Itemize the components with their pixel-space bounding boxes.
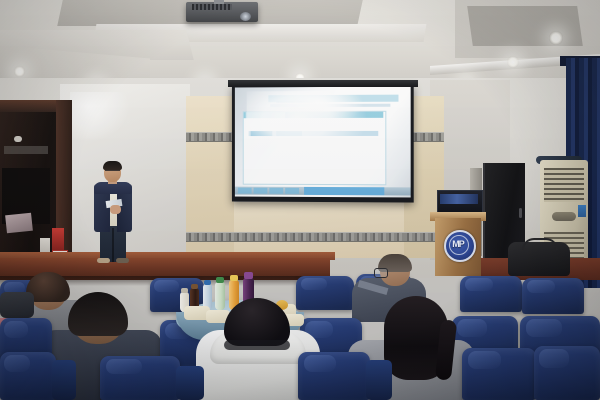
attendee-backpack [0, 292, 34, 318]
projector-mount [214, 0, 224, 4]
projector-lens-icon [240, 12, 251, 21]
seat[interactable] [100, 356, 180, 400]
attendee-dark-jacket-hair [68, 292, 128, 336]
presenter-hair [103, 161, 122, 170]
slide-taskbar-item [254, 188, 268, 194]
red-sign [52, 228, 64, 250]
seat[interactable] [522, 278, 584, 314]
attendee-white-hoodie-collar [224, 340, 290, 350]
presenter-shoe [116, 258, 129, 263]
ceiling-coffer-right-inner [467, 6, 583, 46]
bottle-cap-icon [191, 284, 198, 289]
alcove-paper [5, 213, 33, 234]
bottle-cap-icon [216, 277, 224, 283]
bottle-cap-icon [244, 272, 253, 279]
slide-taskbar-item [238, 188, 252, 194]
presenter-shoe [97, 258, 110, 263]
ac-badge [552, 212, 576, 221]
auditorium-photo: MP [0, 0, 600, 400]
downlight-icon [14, 66, 25, 77]
slide-taskbar-item [269, 188, 283, 194]
wall-light-sheen [70, 92, 130, 142]
downlight-icon [507, 56, 519, 68]
seat[interactable] [462, 348, 536, 400]
podium-emblem-monogram: MP [448, 236, 468, 252]
duffel-bag-handle[interactable] [522, 238, 558, 250]
presenter-leg-seam [112, 228, 114, 262]
ac-vent-grille-icon [544, 168, 584, 202]
energy-label-icon [578, 205, 586, 217]
cabinet-handle[interactable] [519, 208, 522, 218]
tea-bottle [215, 282, 225, 310]
podium-monitor-screen [440, 194, 478, 204]
glasses-icon [374, 268, 388, 278]
mosaic-band [186, 232, 234, 242]
projection-screen [232, 83, 414, 202]
seat-armrest [52, 360, 76, 400]
bottle-cap-icon [204, 280, 211, 285]
marble-wainscot [234, 202, 404, 258]
seat[interactable] [298, 352, 370, 400]
bottle-cap-icon [181, 288, 188, 293]
screen-glare-core [274, 87, 364, 127]
bottle-cap-icon [230, 275, 238, 281]
projector-vent-icon [192, 4, 232, 10]
seat[interactable] [534, 346, 600, 400]
alcove-shelf [4, 146, 48, 154]
seat[interactable] [0, 352, 56, 400]
seat[interactable] [460, 276, 522, 312]
downlight-icon [549, 31, 563, 45]
slide-taskbar-item [285, 188, 299, 194]
alcove-small-light-icon [14, 136, 22, 142]
seat-armrest [366, 360, 392, 400]
mosaic-band [234, 232, 404, 242]
presenter-hand [110, 205, 121, 214]
seat[interactable] [296, 276, 354, 310]
seat-armrest [176, 366, 204, 400]
mosaic-band [186, 132, 234, 142]
screen-surface [235, 86, 411, 197]
slide-taskbar-active-item [304, 187, 384, 195]
glasses-icon [105, 170, 120, 174]
screen-roller-case [228, 80, 418, 87]
